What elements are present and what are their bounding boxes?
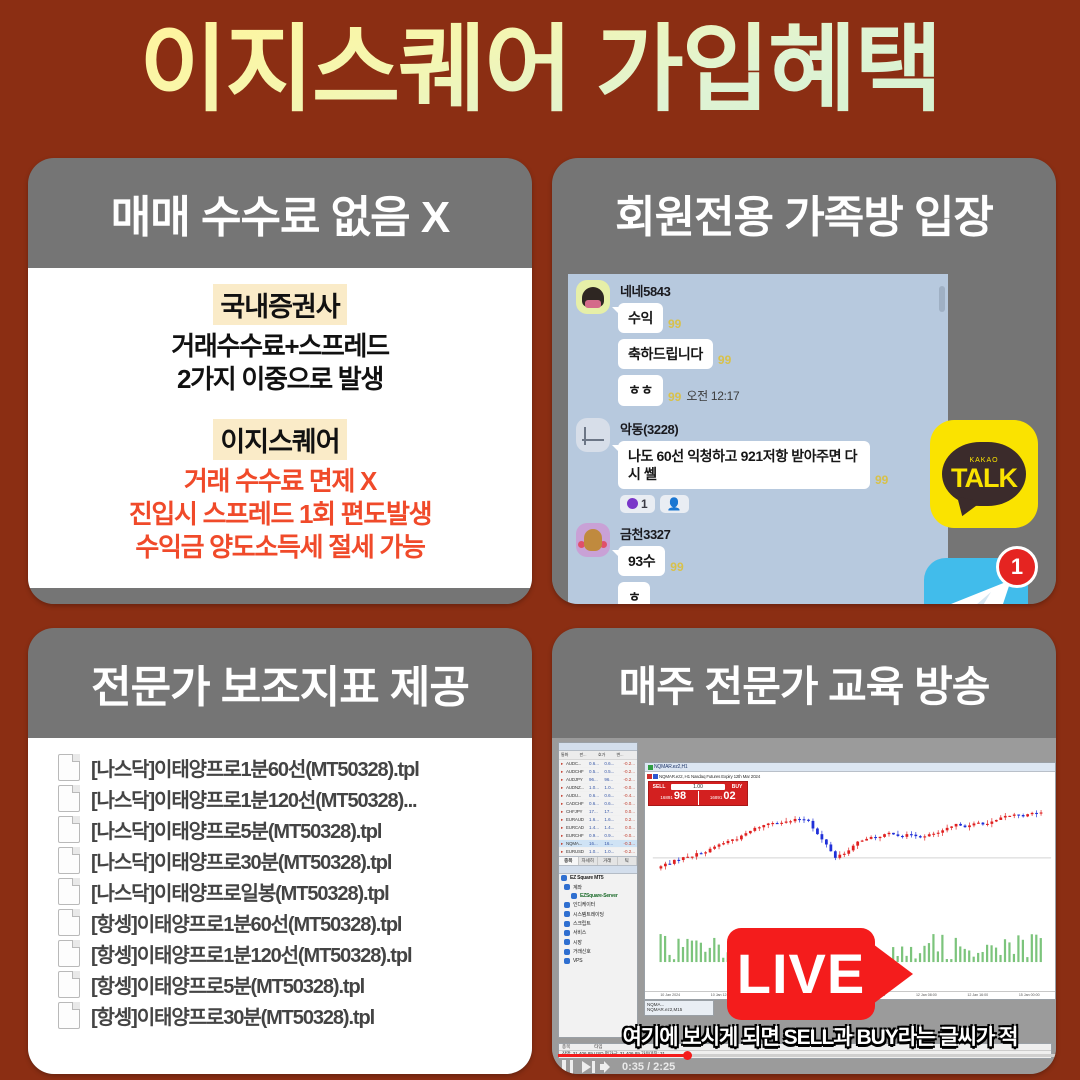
panel3-title: 전문가 보조지표 제공 <box>28 628 532 738</box>
navigator-item[interactable]: 거래신호 <box>559 947 637 956</box>
message-reactions: 1 👤 <box>620 495 940 513</box>
node-icon <box>564 902 570 908</box>
trend-arrow-icon: ▸ <box>561 793 565 799</box>
live-badge: LIVE <box>727 928 875 1020</box>
change-value: -0.2... <box>620 849 635 854</box>
market-watch-row[interactable]: ▸CADCHF0.6...0.6...-0.0... <box>559 800 637 808</box>
chat-sender-name: 금천3327 <box>620 524 940 543</box>
avatar <box>576 418 610 452</box>
file-name: [나스닥]이태양프로5분(MT50328).tpl <box>91 815 381 844</box>
telegram-icon[interactable]: 1 <box>924 558 1028 604</box>
node-icon <box>571 893 577 899</box>
file-icon <box>58 1002 80 1029</box>
volume-icon[interactable] <box>600 1061 613 1073</box>
navigator-item[interactable]: 스크립트 <box>559 919 637 928</box>
ask-price: 17... <box>604 809 619 814</box>
template-file-list: [나스닥]이태양프로1분60선(MT50328).tpl [나스닥]이태양프로1… <box>28 738 532 1074</box>
chat-message: 네네5843 수익 99 축하드립니다 99 ㅎㅎ 99 <box>568 274 948 412</box>
list-item[interactable]: [나스닥]이태양프로1분120선(MT50328)... <box>58 783 532 814</box>
chat-sender-block: 네네5843 수익 99 축하드립니다 99 ㅎㅎ 99 <box>576 280 940 412</box>
navigator-item[interactable]: VPS <box>559 956 637 964</box>
page-title: 이지스퀘어 가입혜택 <box>139 22 941 118</box>
mt5-terminal-screenshot: 통화 판... 호가 변... ▸AUDC...0.6...0.6...-0.2… <box>552 738 1056 1074</box>
market-watch-row[interactable]: ▸AUDNZ...1.0...1.0...-0.0... <box>559 784 637 792</box>
ask-price: 96... <box>604 777 619 782</box>
list-item[interactable]: [나스닥]이태양프로1분60선(MT50328).tpl <box>58 752 532 783</box>
bid-price: 0.6... <box>589 801 604 806</box>
node-icon <box>564 949 570 955</box>
file-name: [항셍]이태양프로5분(MT50328).tpl <box>91 970 364 999</box>
symbol-name: EURUSD <box>566 849 589 854</box>
navigator-item-label: EZ Square MT5 <box>570 875 604 881</box>
navigator-item[interactable]: 서비스 <box>559 928 637 937</box>
navigator-header <box>559 865 637 874</box>
chat-sender-name: 네네5843 <box>620 281 940 300</box>
node-icon <box>561 875 567 881</box>
chat-sender-block: 금천3327 93수 99 ㅎ <box>576 523 940 604</box>
chat-sender-name: 악동(3228) <box>620 419 940 438</box>
speech-bubble-icon: KAKAO TALK <box>942 442 1026 506</box>
next-icon[interactable] <box>582 1061 591 1073</box>
x-axis-tick: 12 Jan 16:00 <box>967 993 988 999</box>
navigator-item-label: 시스템트레이딩 <box>573 911 604 918</box>
ask-price: 0.9... <box>604 833 619 838</box>
ask-price: 1.0... <box>604 785 619 790</box>
live-badge-label: LIVE <box>737 946 865 1002</box>
panel1-body: 국내증권사 거래수수료+스프레드 2가지 이중으로 발생 이지스퀘어 거래 수수… <box>28 268 532 604</box>
broker-line-2: 2가지 이중으로 발생 <box>177 363 383 396</box>
market-watch-tabs[interactable]: 종목 자세히 거래 틱 <box>559 856 637 865</box>
file-icon <box>58 971 80 998</box>
market-watch-row[interactable]: ▸AUDU...0.6...0.6...-0.4... <box>559 792 637 800</box>
list-item[interactable]: [항셍]이태양프로30분(MT50328).tpl <box>58 1000 532 1031</box>
ask-price: 0.5... <box>604 769 619 774</box>
progress-knob[interactable] <box>683 1051 692 1060</box>
unread-count: 99 <box>670 560 683 574</box>
market-watch-columns: 통화 판... 호가 변... <box>559 751 637 760</box>
symbol-name: AUDCHF <box>566 769 589 774</box>
node-icon <box>564 884 570 890</box>
trend-arrow-icon: ▸ <box>561 817 565 823</box>
bid-price: 1.6... <box>589 817 604 822</box>
symbol-name: CADCHF <box>566 801 589 806</box>
market-watch-row[interactable]: ▸EURCAD1.4...1.4...0.0... <box>559 824 637 832</box>
trend-arrow-icon: ▸ <box>561 841 565 847</box>
ezsquare-line-2: 진입시 스프레드 1회 편도발생 <box>129 498 431 531</box>
chart-tab-line2: NQMAR.ez2,M15 <box>647 1007 711 1012</box>
navigator-item-label: 거래신호 <box>573 948 591 955</box>
chat-bubble[interactable]: ㅎㅎ <box>618 375 663 405</box>
unread-count: 99 <box>668 390 681 404</box>
kakao-brand-main: TALK <box>951 465 1017 492</box>
panel4-body: 통화 판... 호가 변... ▸AUDC...0.6...0.6...-0.2… <box>552 738 1056 1074</box>
change-value: -0.0... <box>620 785 635 790</box>
person-icon: 👤 <box>667 497 682 511</box>
chat-bubble[interactable]: 축하드립니다 <box>618 339 713 369</box>
node-icon <box>564 911 570 917</box>
panel2-title: 회원전용 가족방 입장 <box>552 158 1056 268</box>
tab-ticks[interactable]: 틱 <box>618 857 638 865</box>
like-icon <box>627 498 638 509</box>
navigator-item-label: VPS <box>573 958 582 964</box>
broker-heading: 국내증권사 <box>213 284 346 325</box>
symbol-name: NQMA... <box>566 841 589 846</box>
bid-price: 0.9... <box>589 833 604 838</box>
panel-member-chat: 회원전용 가족방 입장 네네5843 수익 99 <box>552 158 1056 604</box>
file-name: [항셍]이태양프로1분120선(MT50328).tpl <box>91 939 411 968</box>
list-item[interactable]: [항셍]이태양프로1분120선(MT50328).tpl <box>58 938 532 969</box>
navigator-item[interactable]: 시장 <box>559 938 637 947</box>
change-value: -0.2... <box>620 777 635 782</box>
ask-price: 16... <box>604 841 619 846</box>
node-icon <box>564 939 570 945</box>
panel3-body: [나스닥]이태양프로1분60선(MT50328).tpl [나스닥]이태양프로1… <box>28 738 532 1074</box>
symbol-name: AUDU... <box>566 793 589 798</box>
poster-title-bar: 이지스퀘어 가입혜택 <box>0 0 1080 140</box>
market-watch-row[interactable]: ▸CHFJPY17...17...0.0... <box>559 808 637 816</box>
ask-price: 0.6... <box>604 761 619 766</box>
trend-arrow-icon: ▸ <box>561 825 565 831</box>
ask-price: 1.4... <box>604 825 619 830</box>
fee-comparison-card: 국내증권사 거래수수료+스프레드 2가지 이중으로 발생 이지스퀘어 거래 수수… <box>28 268 532 588</box>
panel-live-broadcast: 매주 전문가 교육 방송 통화 판... 호가 변... ▸AUDC...0.6… <box>552 628 1056 1074</box>
chat-body: 악동(3228) 나도 60선 익청하고 921저항 받아주면 다시 쎌 99 … <box>618 418 940 517</box>
tab-symbols[interactable]: 종목 <box>559 857 579 865</box>
chat-bubble[interactable]: ㅎ <box>618 582 650 604</box>
column-ask: 호가 <box>598 752 617 758</box>
like-count: 1 <box>641 497 648 511</box>
navigator-item[interactable]: EZSquare-Server <box>559 892 637 900</box>
x-axis-tick: 12 Jan 08:00 <box>916 993 937 999</box>
video-subtitle: 여기에 보시게 되면 SELL과 BUY라는 글씨가 적 <box>552 1021 1056 1051</box>
chat-timestamp: 오전 12:17 <box>686 387 739 404</box>
avatar <box>576 280 610 314</box>
node-icon <box>564 958 570 964</box>
chat-bubble-line: 수익 99 <box>618 303 940 333</box>
column-bid: 판... <box>580 752 599 758</box>
tab-trade[interactable]: 거래 <box>598 857 618 865</box>
x-axis-tick: 15 Jan 00:00 <box>1019 993 1040 999</box>
trend-arrow-icon: ▸ <box>561 833 565 839</box>
player-controls: 0:35 / 2:25 <box>562 1060 675 1074</box>
file-icon <box>58 909 80 936</box>
bid-price: 96... <box>589 777 604 782</box>
change-value: -0.4... <box>620 793 635 798</box>
chat-bubble-line: 93수 99 <box>618 546 940 576</box>
node-icon <box>564 921 570 927</box>
chat-bubble[interactable]: 93수 <box>618 546 665 576</box>
bid-price: 0.6... <box>589 761 604 766</box>
file-name: [항셍]이태양프로1분60선(MT50328).tpl <box>91 908 401 937</box>
file-name: [나스닥]이태양프로일봉(MT50328).tpl <box>91 877 389 906</box>
file-name: [나스닥]이태양프로30분(MT50328).tpl <box>91 846 391 875</box>
navigator-tree[interactable]: EZ Square MT5계좌EZSquare-Server인디케이터시스템트레… <box>559 874 637 965</box>
panel-trading-fees: 매매 수수료 없음 X 국내증권사 거래수수료+스프레드 2가지 이중으로 발생… <box>28 158 532 604</box>
chart-tab-strip[interactable]: NQMA... NQMAR.ez2,M15 <box>644 1000 714 1016</box>
poster: 이지스퀘어 가입혜택 매매 수수료 없음 X 국내증권사 거래수수료+스프레드 … <box>0 0 1080 1080</box>
ezsquare-line-3: 수익금 양도소득세 절세 가능 <box>135 531 424 564</box>
bid-price: 16... <box>589 841 604 846</box>
ask-price: 0.6... <box>604 801 619 806</box>
ezsquare-heading: 이지스퀘어 <box>213 419 346 460</box>
change-value: -0.0... <box>620 801 635 806</box>
chat-bubble-line: ㅎ <box>618 582 940 604</box>
change-value: -0.2... <box>620 761 635 766</box>
bid-price: 17... <box>589 809 604 814</box>
file-icon <box>58 847 80 874</box>
chat-bubble-line: 축하드립니다 99 <box>618 339 940 369</box>
market-watch-header <box>559 743 637 751</box>
read-by-reaction[interactable]: 👤 <box>660 495 689 513</box>
bid-price: 1.0... <box>589 849 604 854</box>
column-change: 변... <box>617 752 636 758</box>
ask-price: 1.0... <box>604 849 619 854</box>
file-name: [항셍]이태양프로30분(MT50328).tpl <box>91 1001 374 1030</box>
market-watch-row[interactable]: ▸EURUSD1.0...1.0...-0.2... <box>559 848 637 856</box>
chat-body: 네네5843 수익 99 축하드립니다 99 ㅎㅎ 99 <box>618 280 940 412</box>
symbol-name: AUDJPY <box>566 777 589 782</box>
list-item[interactable]: [나스닥]이태양프로30분(MT50328).tpl <box>58 845 532 876</box>
chat-message: 악동(3228) 나도 60선 익청하고 921저항 받아주면 다시 쎌 99 … <box>568 412 948 517</box>
video-player-bar[interactable]: 0:35 / 2:25 <box>558 1054 1056 1074</box>
trend-arrow-icon: ▸ <box>561 769 565 775</box>
file-icon <box>58 878 80 905</box>
mt5-left-dock: 통화 판... 호가 변... ▸AUDC...0.6...0.6...-0.2… <box>558 742 638 1038</box>
navigator-item-label: 서비스 <box>573 929 586 936</box>
file-icon <box>58 816 80 843</box>
kakaotalk-chat-window[interactable]: 네네5843 수익 99 축하드립니다 99 ㅎㅎ 99 <box>568 274 948 604</box>
progress-bar[interactable] <box>558 1054 1056 1057</box>
list-item[interactable]: [나스닥]이태양프로5분(MT50328).tpl <box>58 814 532 845</box>
navigator-item[interactable]: 계좌 <box>559 882 637 891</box>
market-watch-row[interactable]: ▸EURCHF0.9...0.9...-0.0... <box>559 832 637 840</box>
trend-arrow-icon: ▸ <box>561 849 565 855</box>
symbol-name: AUDC... <box>566 761 589 766</box>
list-item[interactable]: [항셍]이태양프로5분(MT50328).tpl <box>58 969 532 1000</box>
change-value: 0.0... <box>620 825 635 830</box>
ask-price: 1.6... <box>604 817 619 822</box>
chat-body: 금천3327 93수 99 ㅎ <box>618 523 940 604</box>
chat-message: 금천3327 93수 99 ㅎ <box>568 517 948 604</box>
ask-price: 0.6... <box>604 793 619 798</box>
panel2-body: 네네5843 수익 99 축하드립니다 99 ㅎㅎ 99 <box>552 268 1056 604</box>
chat-bubble-line: ㅎㅎ 99 오전 12:17 <box>618 375 940 405</box>
navigator-item-label: 계좌 <box>573 884 582 891</box>
market-watch-row[interactable]: ▸NQMA...16...16...-0.3... <box>559 840 637 848</box>
change-value: 0.0... <box>620 809 635 814</box>
avatar <box>576 523 610 557</box>
unread-count: 99 <box>668 317 681 331</box>
list-item[interactable]: [항셍]이태양프로1분60선(MT50328).tpl <box>58 907 532 938</box>
trend-arrow-icon: ▸ <box>561 809 565 815</box>
market-watch-rows: ▸AUDC...0.6...0.6...-0.2...▸AUDCHF0.5...… <box>559 760 637 856</box>
player-time: 0:35 / 2:25 <box>622 1061 675 1073</box>
trend-arrow-icon: ▸ <box>561 801 565 807</box>
progress-fill <box>558 1054 687 1057</box>
symbol-name: AUDNZ... <box>566 785 589 790</box>
change-value: -0.3... <box>620 841 635 846</box>
navigator-item[interactable]: EZ Square MT5 <box>559 874 637 882</box>
panel1-title: 매매 수수료 없음 X <box>28 158 532 268</box>
file-icon <box>58 754 80 781</box>
navigator-item[interactable]: 인디케이터 <box>559 900 637 909</box>
tab-details[interactable]: 자세히 <box>579 857 599 865</box>
panel4-title: 매주 전문가 교육 방송 <box>552 628 1056 738</box>
unread-badge: 1 <box>996 546 1038 588</box>
market-watch-row[interactable]: ▸AUDJPY96...96...-0.2... <box>559 776 637 784</box>
trend-arrow-icon: ▸ <box>561 761 565 767</box>
ezsquare-line-1: 거래 수수료 면제 X <box>184 465 376 498</box>
navigator-item-label: 시장 <box>573 939 582 946</box>
chat-bubble-line: 나도 60선 익청하고 921저항 받아주면 다시 쎌 99 <box>618 441 940 489</box>
file-icon <box>58 785 80 812</box>
unread-count: 99 <box>875 473 888 487</box>
navigator-item[interactable]: 시스템트레이딩 <box>559 910 637 919</box>
bid-price: 0.5... <box>589 769 604 774</box>
market-watch-row[interactable]: ▸AUDCHF0.5...0.5...-0.2... <box>559 768 637 776</box>
change-value: 0.2... <box>620 817 635 822</box>
pause-icon[interactable] <box>562 1060 573 1074</box>
file-name: [나스닥]이태양프로1분120선(MT50328)... <box>91 784 417 813</box>
node-icon <box>564 930 570 936</box>
file-icon <box>58 940 80 967</box>
trend-arrow-icon: ▸ <box>561 785 565 791</box>
market-watch-row[interactable]: ▸AUDC...0.6...0.6...-0.2... <box>559 760 637 768</box>
change-value: -0.0... <box>620 833 635 838</box>
like-reaction[interactable]: 1 <box>620 495 655 513</box>
navigator-item-label: 인디케이터 <box>573 901 595 908</box>
list-item[interactable]: [나스닥]이태양프로일봉(MT50328).tpl <box>58 876 532 907</box>
bid-price: 1.4... <box>589 825 604 830</box>
market-watch-row[interactable]: ▸EURAUD1.6...1.6...0.2... <box>559 816 637 824</box>
unread-count: 99 <box>718 353 731 367</box>
bid-price: 1.0... <box>589 785 604 790</box>
symbol-name: EURAUD <box>566 817 589 822</box>
change-value: -0.2... <box>620 769 635 774</box>
chat-bubble[interactable]: 나도 60선 익청하고 921저항 받아주면 다시 쎌 <box>618 441 870 489</box>
trend-arrow-icon: ▸ <box>561 777 565 783</box>
column-symbol: 통화 <box>561 752 580 758</box>
broker-line-1: 거래수수료+스프레드 <box>171 330 388 363</box>
file-name: [나스닥]이태양프로1분60선(MT50328).tpl <box>91 753 419 782</box>
navigator-item-label: EZSquare-Server <box>580 893 618 899</box>
bid-price: 0.6... <box>589 793 604 798</box>
chat-sender-block: 악동(3228) 나도 60선 익청하고 921저항 받아주면 다시 쎌 99 … <box>576 418 940 517</box>
navigator-item-label: 스크립트 <box>573 920 591 927</box>
symbol-name: CHFJPY <box>566 809 589 814</box>
kakaotalk-icon[interactable]: KAKAO TALK <box>930 420 1038 528</box>
chat-bubble[interactable]: 수익 <box>618 303 663 333</box>
symbol-name: EURCHF <box>566 833 589 838</box>
panel-expert-indicators: 전문가 보조지표 제공 [나스닥]이태양프로1분60선(MT50328).tpl… <box>28 628 532 1074</box>
symbol-name: EURCAD <box>566 825 589 830</box>
x-axis-tick: 10 Jan 2024 <box>660 993 680 999</box>
